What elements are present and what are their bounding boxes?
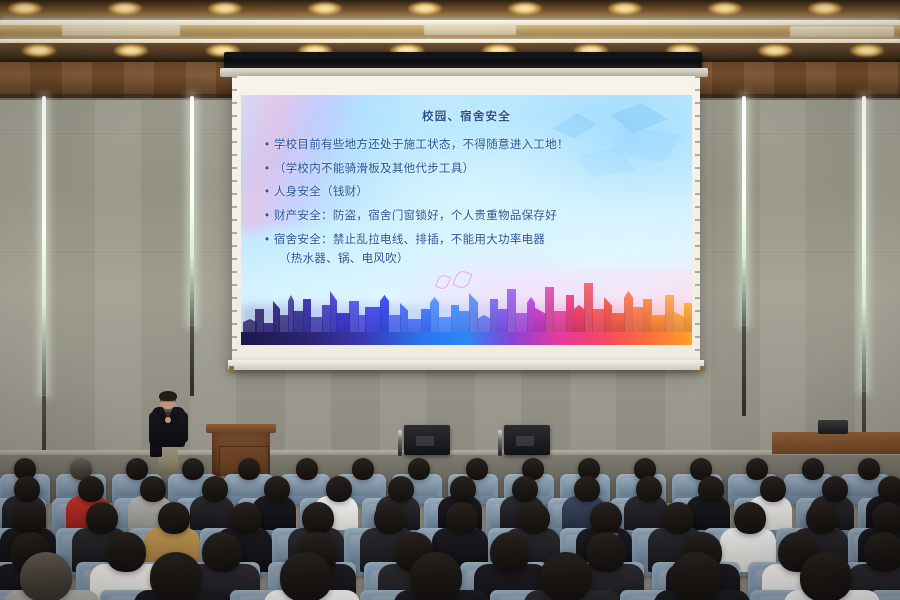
audience-head <box>264 476 290 502</box>
audience-head <box>150 552 202 600</box>
audience-head <box>734 502 766 534</box>
slide-bullet-4: • 财产安全：防盗，宿舍门窗锁好，个人贵重物品保存好 <box>265 209 678 224</box>
slide-bullet-list: • 学校目前有些地方还处于施工状态，不得随意进入工地！• （学校内不能骑滑板及其… <box>265 138 678 276</box>
ceiling-downlight <box>22 44 56 57</box>
side-table-equipment <box>818 420 848 434</box>
audience-head <box>230 502 262 534</box>
audience-head <box>182 458 204 480</box>
audience-head <box>806 502 838 534</box>
wall-light-strip-3 <box>742 96 746 326</box>
slide-bullet-1: • 学校目前有些地方还处于施工状态，不得随意进入工地！ <box>265 138 678 153</box>
presenter-arm-right <box>179 412 188 443</box>
audience-head <box>822 476 848 502</box>
ceiling-vent-center <box>424 24 516 35</box>
audience-head <box>450 476 476 502</box>
audience-head <box>410 552 462 600</box>
audience-head <box>490 532 530 572</box>
screen-foot-right <box>700 366 705 371</box>
bullet-text: （热水器、锅、电风吹） <box>279 253 409 265</box>
ceiling-downlight <box>608 2 642 15</box>
bullet-marker: • <box>265 210 273 222</box>
audience-head <box>126 458 148 480</box>
presenter-hair <box>159 391 177 401</box>
audience-head <box>760 476 786 502</box>
ceiling-downlight <box>508 2 542 15</box>
audience-area <box>0 440 900 600</box>
wall-light-strip-2 <box>190 96 194 326</box>
ceiling-downlight <box>808 2 842 15</box>
slide-city-skyline-graphic <box>241 269 692 345</box>
audience-head <box>14 502 46 534</box>
ceiling-downlight <box>850 44 884 57</box>
audience-head <box>746 458 768 480</box>
wall-light-pole-2 <box>190 326 194 396</box>
audience-head <box>800 552 852 600</box>
ceiling-downlight <box>308 2 342 15</box>
slide-bullet-5: • 宿舍安全：禁止乱拉电线、排插，不能用大功率电器 <box>265 233 678 248</box>
ceiling-vent-left <box>62 25 180 36</box>
screen-foot-left <box>229 366 234 371</box>
wall-light-pole-3 <box>742 326 746 416</box>
audience-head <box>670 552 722 600</box>
bullet-marker: • <box>265 234 273 246</box>
audience-head <box>872 502 900 534</box>
audience-head <box>158 502 190 534</box>
bullet-marker: • <box>265 186 273 198</box>
skyline-glow <box>241 305 692 345</box>
audience-head <box>326 476 352 502</box>
audience-head <box>374 502 406 534</box>
ceiling-downlight <box>708 2 742 15</box>
audience-head <box>140 476 166 502</box>
ceiling-downlight <box>114 44 148 57</box>
audience-head <box>408 458 430 480</box>
presenter-hand <box>165 417 171 423</box>
bullet-text: 学校目前有些地方还处于施工状态，不得随意进入工地！ <box>274 139 569 151</box>
audience-head <box>78 476 104 502</box>
wall-light-strip-4 <box>862 96 866 392</box>
audience-head <box>518 502 550 534</box>
audience-head <box>586 532 626 572</box>
audience-head <box>388 476 414 502</box>
audience-head <box>280 552 332 600</box>
audience-head <box>512 476 538 502</box>
slide-bullet-2: • （学校内不能骑滑板及其他代步工具） <box>265 162 678 177</box>
audience-head <box>86 502 118 534</box>
bullet-text: 人身安全（钱财） <box>274 186 368 198</box>
bullet-text: 宿舍安全：禁止乱拉电线、排插，不能用大功率电器 <box>274 234 545 246</box>
audience-head <box>590 502 622 534</box>
audience-head <box>662 502 694 534</box>
ceiling-downlight <box>758 44 792 57</box>
slide-bullet-6: （热水器、锅、电风吹） <box>279 252 678 267</box>
ceiling-downlight <box>8 2 42 15</box>
projected-slide: 校园、宿舍安全 • 学校目前有些地方还处于施工状态，不得随意进入工地！• （学校… <box>241 95 692 345</box>
audience-head <box>574 476 600 502</box>
audience-head <box>864 532 900 572</box>
audience-head <box>858 458 880 480</box>
screen-edge-tabs-right <box>695 76 700 366</box>
audience-head <box>446 502 478 534</box>
audience-head <box>636 476 662 502</box>
screen-edge-tabs-left <box>232 76 237 366</box>
audience-head <box>238 458 260 480</box>
wall-light-strip-1 <box>42 96 46 396</box>
audience-head <box>878 476 900 502</box>
ceiling-downlight <box>408 2 442 15</box>
bullet-text: 财产安全：防盗，宿舍门窗锁好，个人贵重物品保存好 <box>274 210 557 222</box>
slide-bullet-3: • 人身安全（钱财） <box>265 185 678 200</box>
bullet-marker: • <box>265 139 273 151</box>
projection-screen-bottom-bar <box>228 360 704 370</box>
ceiling-vent-right <box>790 26 894 37</box>
auditorium-scene: 校园、宿舍安全 • 学校目前有些地方还处于施工状态，不得随意进入工地！• （学校… <box>0 0 900 600</box>
audience-head <box>20 552 72 600</box>
ceiling-downlight <box>208 2 242 15</box>
ceiling-downlight <box>108 2 142 15</box>
slide-title: 校园、宿舍安全 <box>241 108 692 124</box>
audience-head <box>202 532 242 572</box>
audience-head <box>540 552 592 600</box>
bullet-text: （学校内不能骑滑板及其他代步工具） <box>274 163 475 175</box>
audience-head <box>302 502 334 534</box>
audience-head <box>352 458 374 480</box>
bullet-marker: • <box>265 163 273 175</box>
audience-head <box>698 476 724 502</box>
audience-head <box>14 476 40 502</box>
audience-head <box>202 476 228 502</box>
audience-head <box>296 458 318 480</box>
audience-head <box>106 532 146 572</box>
audience-head <box>802 458 824 480</box>
